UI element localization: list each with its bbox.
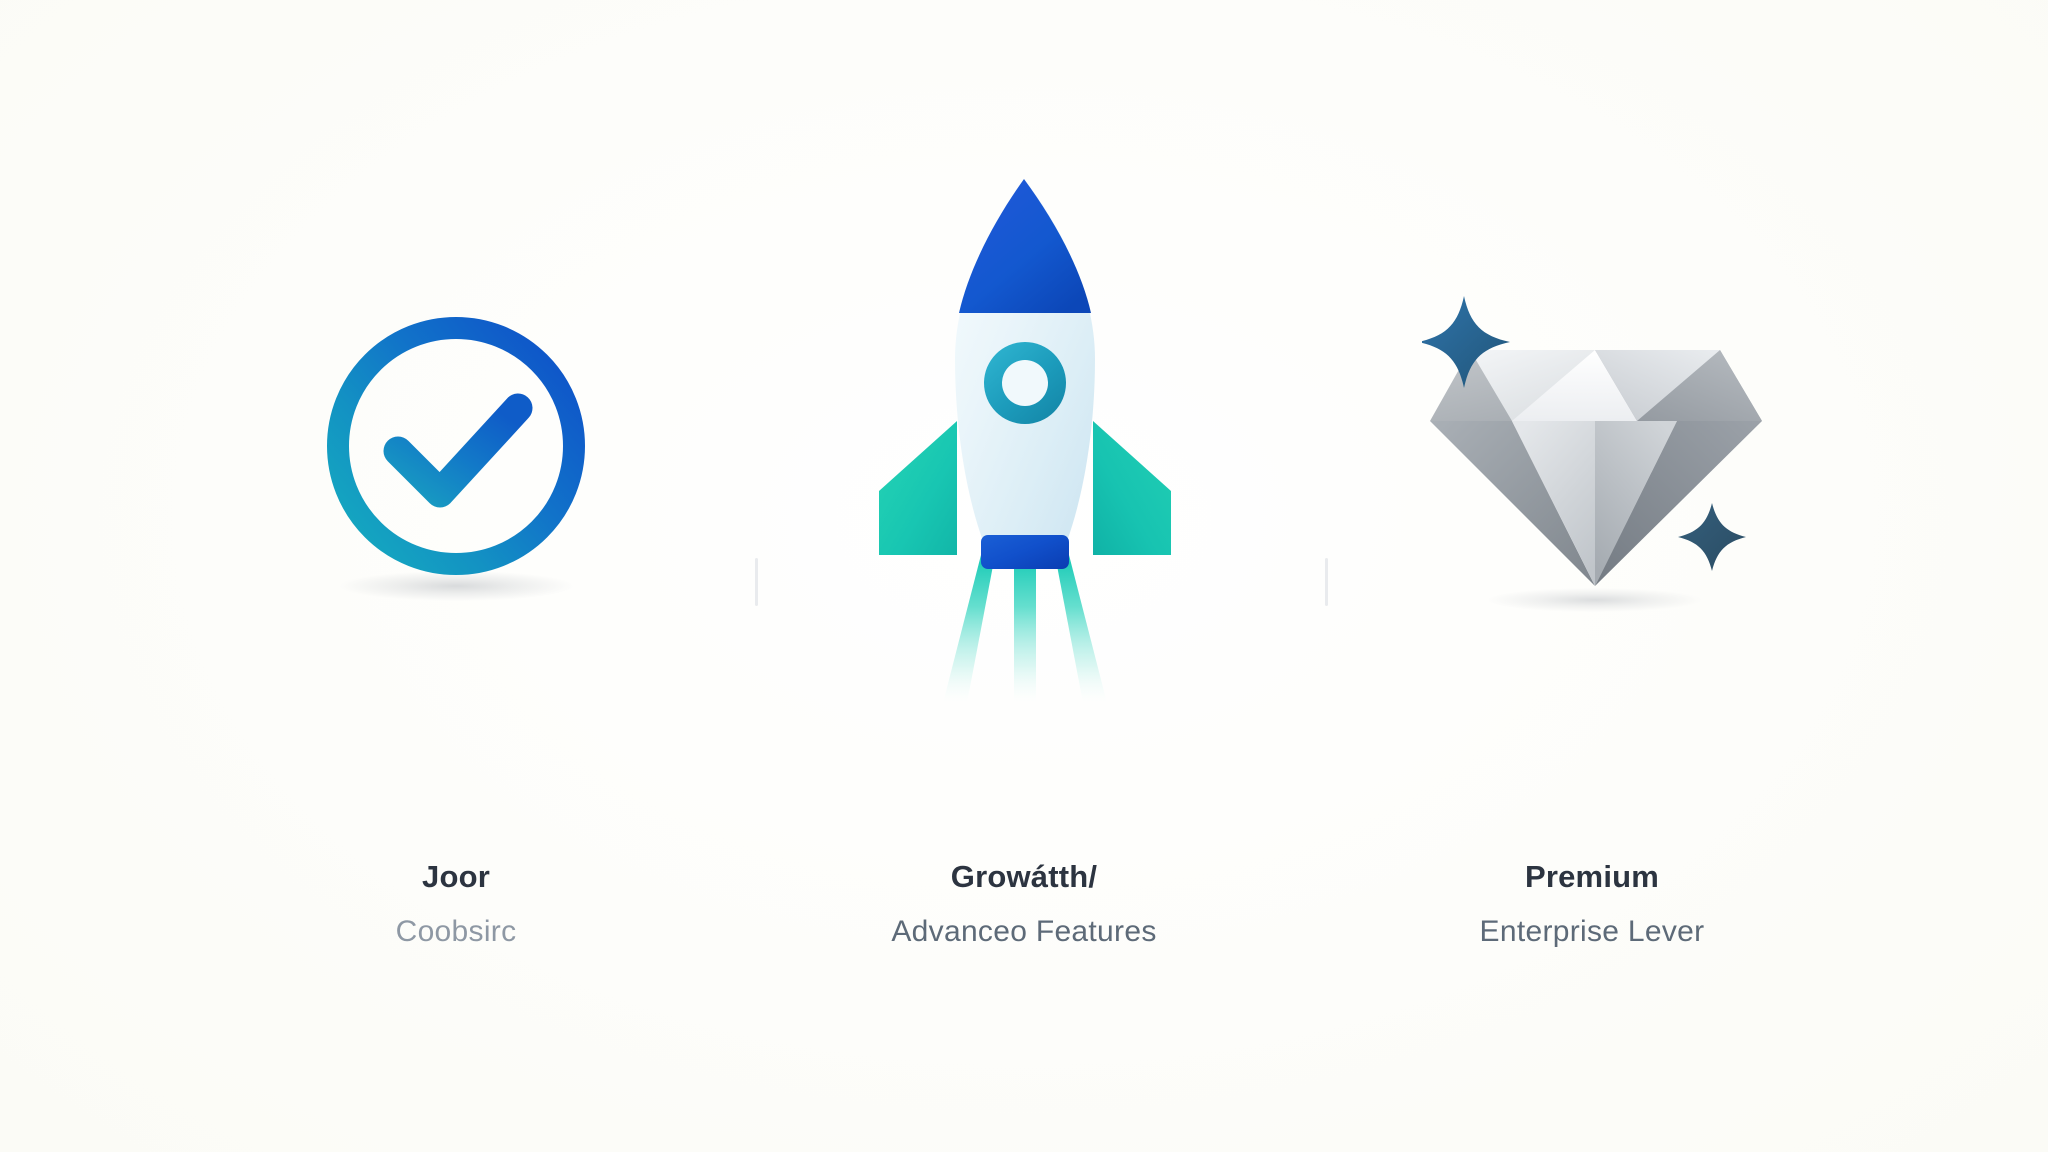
tier-card-premium[interactable]: Premium Enterprise Lever bbox=[1308, 0, 1876, 1152]
tier-label-zone-growth: Growátth/ Advanceo Features bbox=[740, 860, 1308, 948]
diamond-icon[interactable] bbox=[1422, 288, 1762, 623]
column-divider-2 bbox=[1325, 558, 1328, 606]
tier-icon-zone-growth bbox=[740, 240, 1308, 670]
tier-title-premium: Premium bbox=[1525, 860, 1659, 894]
tier-icon-zone-basic bbox=[172, 240, 740, 670]
tier-title-growth: Growátth/ bbox=[951, 860, 1097, 894]
tier-card-basic[interactable]: Joor Coobsirc bbox=[172, 0, 740, 1152]
tier-title-basic: Joor bbox=[422, 860, 490, 894]
canvas-background: Joor Coobsirc bbox=[0, 0, 2048, 1152]
tier-card-growth[interactable]: Growátth/ Advanceo Features bbox=[740, 0, 1308, 1152]
tier-subtitle-basic: Coobsirc bbox=[396, 915, 517, 948]
rocket-icon[interactable] bbox=[859, 173, 1189, 738]
check-circle-icon[interactable] bbox=[306, 303, 606, 608]
tier-row: Joor Coobsirc bbox=[0, 0, 2048, 1152]
tier-label-zone-premium: Premium Enterprise Lever bbox=[1308, 860, 1876, 948]
tier-icon-zone-premium bbox=[1308, 240, 1876, 670]
tier-label-zone-basic: Joor Coobsirc bbox=[172, 860, 740, 948]
tier-subtitle-premium: Enterprise Lever bbox=[1480, 915, 1705, 948]
column-divider-1 bbox=[755, 558, 758, 606]
tier-subtitle-growth: Advanceo Features bbox=[891, 915, 1156, 948]
